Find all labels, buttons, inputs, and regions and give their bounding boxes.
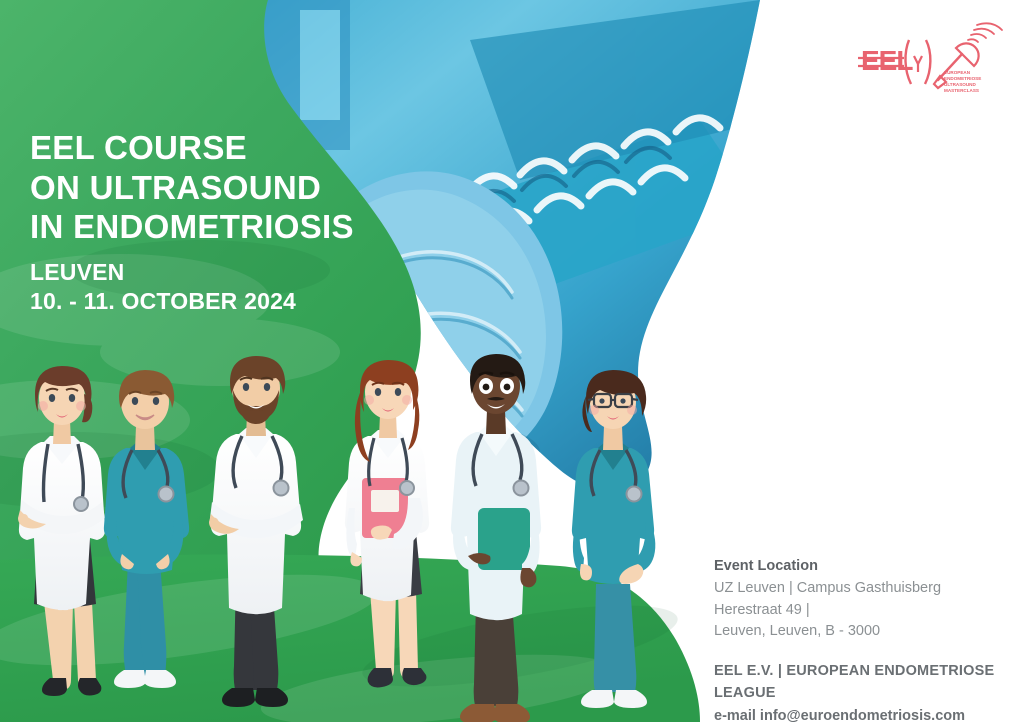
event-location-block: Event Location UZ Leuven | Campus Gasthu… [714,556,1014,643]
eel-logo[interactable]: EEL EUROPEAN ENDOMETRIOSE ULTRASOUND MAS… [856,18,1006,98]
page-title: EEL COURSE ON ULTRASOUND IN ENDOMETRIOSI… [30,128,354,247]
person-male-doctor-bearded [209,356,303,707]
logo-tagline-1: EUROPEAN [944,70,971,75]
person-male-doctor-dark-skin [451,354,541,722]
event-location-line-1: UZ Leuven | Campus Gasthuisberg [714,578,1014,600]
medical-team-illustration [0,302,720,722]
event-location-line-3: Leuven, Leuven, B - 3000 [714,621,1014,643]
person-female-nurse-glasses [572,370,655,708]
event-subtitle: LEUVEN 10. - 11. OCTOBER 2024 [30,258,296,317]
person-female-doctor-redhead [345,360,429,687]
logo-tagline-4: MASTERCLASS [944,88,979,93]
logo-tagline-2: ENDOMETRIOSE [944,76,981,81]
logo-curve-right [925,40,930,84]
poster-canvas: EEL COURSE ON ULTRASOUND IN ENDOMETRIOSI… [0,0,1024,722]
event-location-heading: Event Location [714,556,1014,578]
organization-block: EEL E.V. | EUROPEAN ENDOMETRIOSE LEAGUE … [714,660,1014,722]
organization-name: EEL E.V. | EUROPEAN ENDOMETRIOSE LEAGUE [714,660,1014,705]
organization-email[interactable]: e-mail info@euroendometriosis.com [714,705,1014,722]
person-female-doctor [18,366,105,696]
event-location-line-2: Herestraat 49 | [714,600,1014,622]
logo-tagline-3: ULTRASOUND [944,82,976,87]
person-male-nurse [104,370,189,688]
